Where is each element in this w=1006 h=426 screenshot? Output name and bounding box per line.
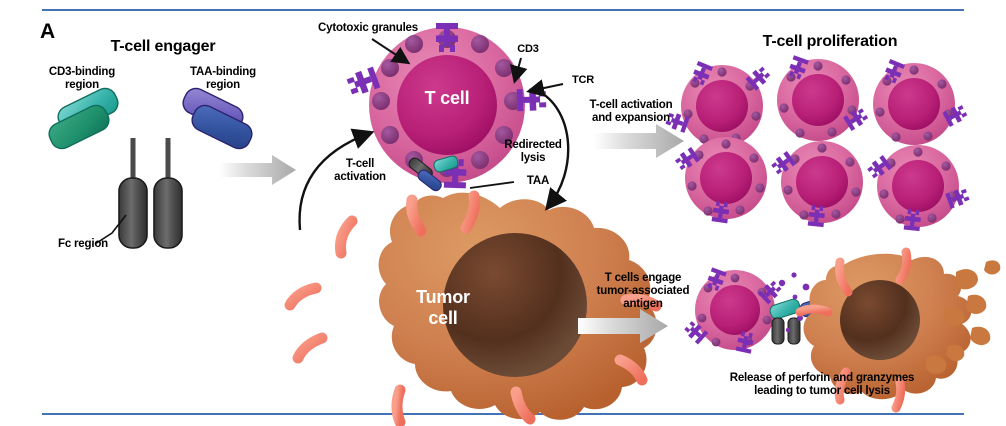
label-tumor-cell: Tumor cell bbox=[383, 287, 503, 328]
arrow-engager-to-cells bbox=[219, 155, 296, 185]
label-t-cell-activation: T-cell activation bbox=[310, 158, 410, 184]
t-cell-clone bbox=[866, 145, 970, 231]
panel-letter: A bbox=[40, 20, 55, 44]
label-redirected-lysis: Redirected lysis bbox=[488, 139, 578, 165]
label-engage-antigen: T cells engage tumor-associated antigen bbox=[578, 272, 708, 312]
label-cd3-binding-region: CD3-binding region bbox=[22, 66, 142, 92]
t-cell-clone bbox=[873, 59, 968, 145]
tcr-pointer bbox=[530, 84, 563, 91]
title-t-cell-engager: T-cell engager bbox=[58, 38, 268, 56]
label-tcr: TCR bbox=[566, 74, 600, 87]
t-cell-clone bbox=[777, 55, 869, 141]
title-t-cell-proliferation: T-cell proliferation bbox=[700, 33, 960, 51]
arrow-to-proliferation bbox=[594, 124, 684, 158]
label-release-perforin-granzymes: Release of perforin and granzymes leadin… bbox=[672, 372, 972, 398]
label-cd3: CD3 bbox=[508, 43, 548, 56]
diagram-canvas bbox=[0, 0, 1006, 426]
taa-binding-arm bbox=[179, 85, 255, 153]
t-cell-clone bbox=[674, 137, 767, 223]
taa-pointer bbox=[470, 182, 514, 188]
cd3-binding-arm bbox=[45, 85, 121, 153]
label-cytotoxic-granules: Cytotoxic granules bbox=[288, 22, 448, 35]
hinge-linkers bbox=[133, 138, 168, 178]
fc-region-shape bbox=[119, 178, 182, 248]
label-t-cell: T cell bbox=[392, 88, 502, 109]
label-fc-region: Fc region bbox=[38, 238, 128, 251]
figure-panel-a: A T-cell engager T-cell proliferation CD… bbox=[0, 0, 1006, 426]
label-taa-binding-region: TAA-binding region bbox=[168, 66, 278, 92]
label-taa: TAA bbox=[518, 175, 558, 188]
t-cell-clone bbox=[770, 141, 863, 227]
label-activation-and-expansion: T-cell activation and expansion bbox=[556, 99, 706, 125]
proliferated-t-cells bbox=[665, 55, 971, 231]
